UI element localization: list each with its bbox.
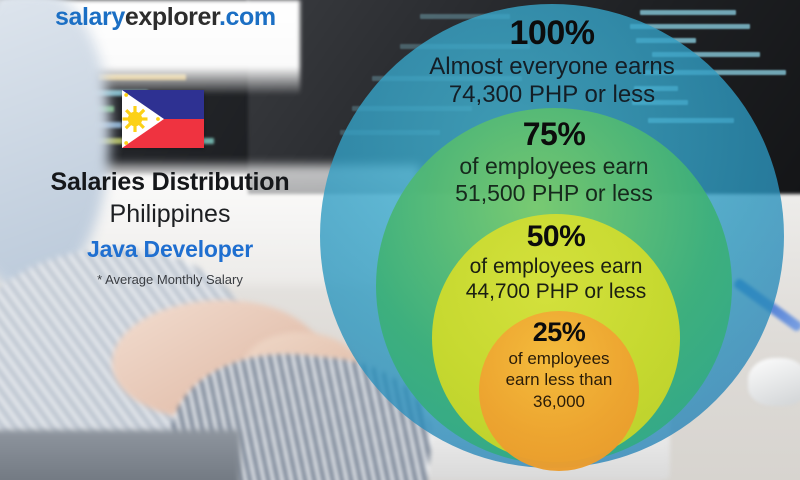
bubble-50-caption-line1: of employees earn (470, 254, 643, 279)
bubble-100-caption-line1: Almost everyone earns (429, 53, 674, 81)
bubble-75-caption-line1: of employees earn (459, 153, 648, 180)
bubble-100-percent-value: 100% (510, 14, 595, 53)
bubble-25-caption-line1: of employees (508, 348, 609, 369)
bubble-50-percent-value: 50% (527, 220, 586, 254)
job-title: Java Developer (0, 232, 340, 268)
philippines-flag-icon (122, 90, 204, 148)
site-logo[interactable]: salaryexplorer.com (55, 3, 276, 32)
bubble-25-percent-value: 25% (533, 317, 586, 348)
country-name: Philippines (0, 196, 340, 232)
logo-part-tld: .com (219, 3, 276, 31)
bubble-25-caption-line2: earn less than (506, 369, 613, 390)
bubble-100-caption-line2: 74,300 PHP or less (449, 81, 655, 109)
bubble-25-percent: 25% of employees earn less than 36,000 (479, 311, 639, 471)
bubble-25-caption-line3: 36,000 (533, 391, 585, 412)
left-info-panel: Salaries Distribution Philippines Java D… (0, 168, 340, 293)
salary-note: * Average Monthly Salary (0, 268, 340, 293)
bubble-75-caption-line2: 51,500 PHP or less (455, 180, 653, 207)
page-title: Salaries Distribution (0, 168, 340, 196)
logo-part-salary: salary (55, 3, 125, 31)
bubble-75-percent-value: 75% (523, 116, 586, 153)
logo-part-explorer: explorer (125, 3, 219, 31)
bubble-50-caption-line2: 44,700 PHP or less (466, 279, 647, 304)
